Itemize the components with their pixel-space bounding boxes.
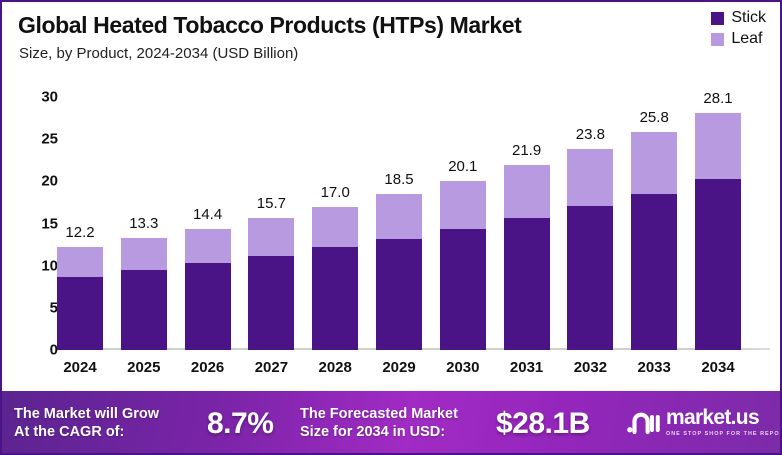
bar-group-2027[interactable]: 15.7 [248, 218, 294, 350]
bar-value-label-2034: 28.1 [703, 90, 732, 107]
footer-size-caption: The Forecasted Market Size for 2034 in U… [300, 405, 458, 441]
bar-segment-stick-2028 [312, 247, 358, 350]
bar-group-2024[interactable]: 12.2 [57, 247, 103, 350]
x-axis-label-2034: 2034 [701, 359, 734, 376]
bar-value-label-2031: 21.9 [512, 142, 541, 159]
bar-segment-leaf-2029 [376, 194, 422, 239]
x-axis-label-2031: 2031 [510, 359, 543, 376]
x-axis-label-2032: 2032 [574, 359, 607, 376]
footer-size-caption-line1: The Forecasted Market [300, 405, 458, 423]
bar-segment-leaf-2031 [504, 165, 550, 217]
x-axis-label-2030: 2030 [446, 359, 479, 376]
market-us-logo-text: market.us ONE STOP SHOP FOR THE REPORTS [666, 407, 782, 437]
bar-segment-leaf-2026 [185, 229, 231, 264]
bar-value-label-2032: 23.8 [576, 126, 605, 143]
logo-tagline: ONE STOP SHOP FOR THE REPORTS [666, 431, 782, 437]
bar-group-2033[interactable]: 25.8 [631, 132, 677, 350]
legend-swatch-stick [711, 12, 724, 25]
x-axis-label-2025: 2025 [127, 359, 160, 376]
x-axis-label-2027: 2027 [255, 359, 288, 376]
bar-segment-leaf-2032 [567, 149, 613, 206]
bar-segment-leaf-2033 [631, 132, 677, 194]
bar-value-label-2030: 20.1 [448, 158, 477, 175]
footer-cagr-caption-line2: At the CAGR of: [14, 423, 159, 441]
bar-group-2026[interactable]: 14.4 [185, 229, 231, 350]
legend-item-leaf[interactable]: Leaf [711, 31, 766, 47]
bar-group-2029[interactable]: 18.5 [376, 194, 422, 350]
bar-segment-leaf-2027 [248, 218, 294, 256]
x-axis-label-2029: 2029 [382, 359, 415, 376]
bar-segment-stick-2026 [185, 263, 231, 350]
bar-segment-stick-2029 [376, 239, 422, 350]
chart-header: Global Heated Tobacco Products (HTPs) Ma… [2, 2, 782, 80]
x-axis-label-2033: 2033 [638, 359, 671, 376]
bar-segment-leaf-2025 [121, 238, 167, 270]
chart-plot-area: 051015202530 12.2202413.3202514.4202615.… [2, 80, 782, 380]
x-axis-label-2024: 2024 [63, 359, 96, 376]
bar-value-label-2033: 25.8 [640, 109, 669, 126]
chart-legend: Stick Leaf [711, 10, 766, 52]
footer-size-caption-line2: Size for 2034 in USD: [300, 423, 458, 441]
market-us-logo[interactable]: market.us ONE STOP SHOP FOR THE REPORTS [626, 407, 782, 437]
logo-wordmark: market.us [666, 407, 782, 428]
legend-item-stick[interactable]: Stick [711, 10, 766, 26]
chart-subtitle: Size, by Product, 2024-2034 (USD Billion… [19, 45, 298, 62]
bar-series-container: 12.2202413.3202514.4202615.7202717.02028… [2, 80, 782, 380]
chart-infographic: Global Heated Tobacco Products (HTPs) Ma… [0, 0, 782, 455]
bar-value-label-2027: 15.7 [257, 195, 286, 212]
x-axis-label-2028: 2028 [319, 359, 352, 376]
bar-group-2025[interactable]: 13.3 [121, 238, 167, 350]
footer-size-value: $28.1B [496, 407, 590, 441]
bar-segment-leaf-2034 [695, 113, 741, 179]
bar-group-2030[interactable]: 20.1 [440, 181, 486, 351]
page-title: Global Heated Tobacco Products (HTPs) Ma… [18, 12, 521, 39]
footer-cagr-caption: The Market will Grow At the CAGR of: [14, 405, 159, 441]
legend-label-leaf: Leaf [731, 31, 762, 47]
market-us-logo-icon [626, 408, 660, 436]
legend-label-stick: Stick [731, 10, 766, 26]
bar-group-2028[interactable]: 17.0 [312, 207, 358, 350]
footer-banner: The Market will Grow At the CAGR of: 8.7… [2, 391, 782, 453]
bar-group-2032[interactable]: 23.8 [567, 149, 613, 350]
bar-segment-stick-2027 [248, 256, 294, 350]
bar-value-label-2028: 17.0 [321, 184, 350, 201]
bar-value-label-2024: 12.2 [65, 224, 94, 241]
bar-group-2031[interactable]: 21.9 [504, 165, 550, 350]
bar-segment-stick-2024 [57, 277, 103, 350]
x-axis-label-2026: 2026 [191, 359, 224, 376]
bar-segment-leaf-2028 [312, 207, 358, 247]
bar-value-label-2029: 18.5 [384, 171, 413, 188]
bar-segment-leaf-2030 [440, 181, 486, 229]
footer-cagr-value: 8.7% [207, 407, 273, 441]
bar-value-label-2025: 13.3 [129, 215, 158, 232]
bar-segment-stick-2034 [695, 179, 741, 350]
bar-group-2034[interactable]: 28.1 [695, 113, 741, 350]
bar-segment-stick-2025 [121, 270, 167, 350]
bar-value-label-2026: 14.4 [193, 206, 222, 223]
bar-segment-stick-2030 [440, 229, 486, 350]
bar-segment-stick-2033 [631, 194, 677, 350]
bar-segment-stick-2031 [504, 218, 550, 350]
bar-segment-stick-2032 [567, 206, 613, 350]
bar-segment-leaf-2024 [57, 247, 103, 277]
legend-swatch-leaf [711, 33, 724, 46]
footer-cagr-caption-line1: The Market will Grow [14, 405, 159, 423]
